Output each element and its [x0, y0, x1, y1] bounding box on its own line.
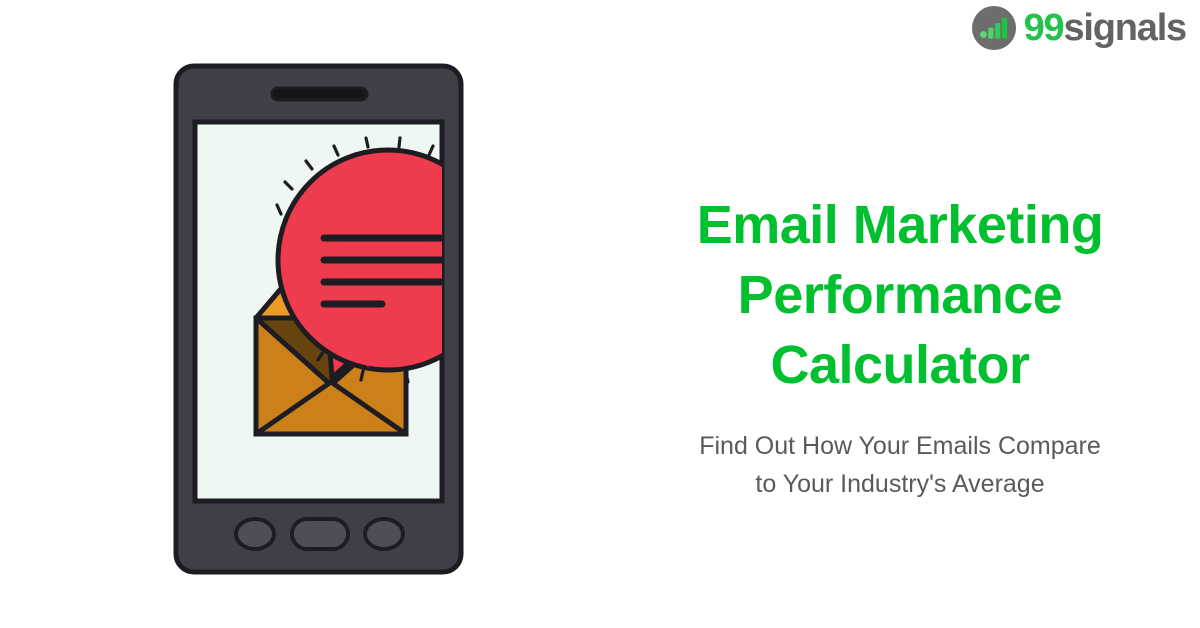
bar-chart-circle-icon — [972, 6, 1016, 50]
smartphone-email-notification-illustration — [120, 30, 540, 600]
phone-recents-button[interactable] — [365, 519, 403, 549]
hero-copy: Email Marketing Performance Calculator F… — [640, 190, 1160, 503]
brand-name-rest: signals — [1063, 7, 1186, 49]
brand-name-accent: 99 — [1024, 7, 1064, 49]
page-title: Email Marketing Performance Calculator — [640, 190, 1160, 401]
phone-home-button[interactable] — [292, 519, 348, 549]
email-marketing-calculator-banner: 99signals — [0, 0, 1200, 628]
page-subtitle: Find Out How Your Emails Compare to Your… — [640, 427, 1160, 503]
phone-navigation-buttons[interactable] — [236, 519, 403, 549]
subheadline-line-2: to Your Industry's Average — [755, 470, 1044, 498]
brand-logo[interactable]: 99signals — [972, 6, 1186, 50]
brand-wordmark: 99signals — [1024, 6, 1186, 50]
headline-line-1: Email Marketing — [697, 195, 1104, 255]
headline-line-3: Calculator — [770, 335, 1029, 395]
headline-line-2: Performance — [738, 265, 1063, 325]
phone-speaker-icon — [272, 88, 367, 100]
subheadline-line-1: Find Out How Your Emails Compare — [699, 432, 1101, 460]
phone-back-button[interactable] — [236, 519, 274, 549]
